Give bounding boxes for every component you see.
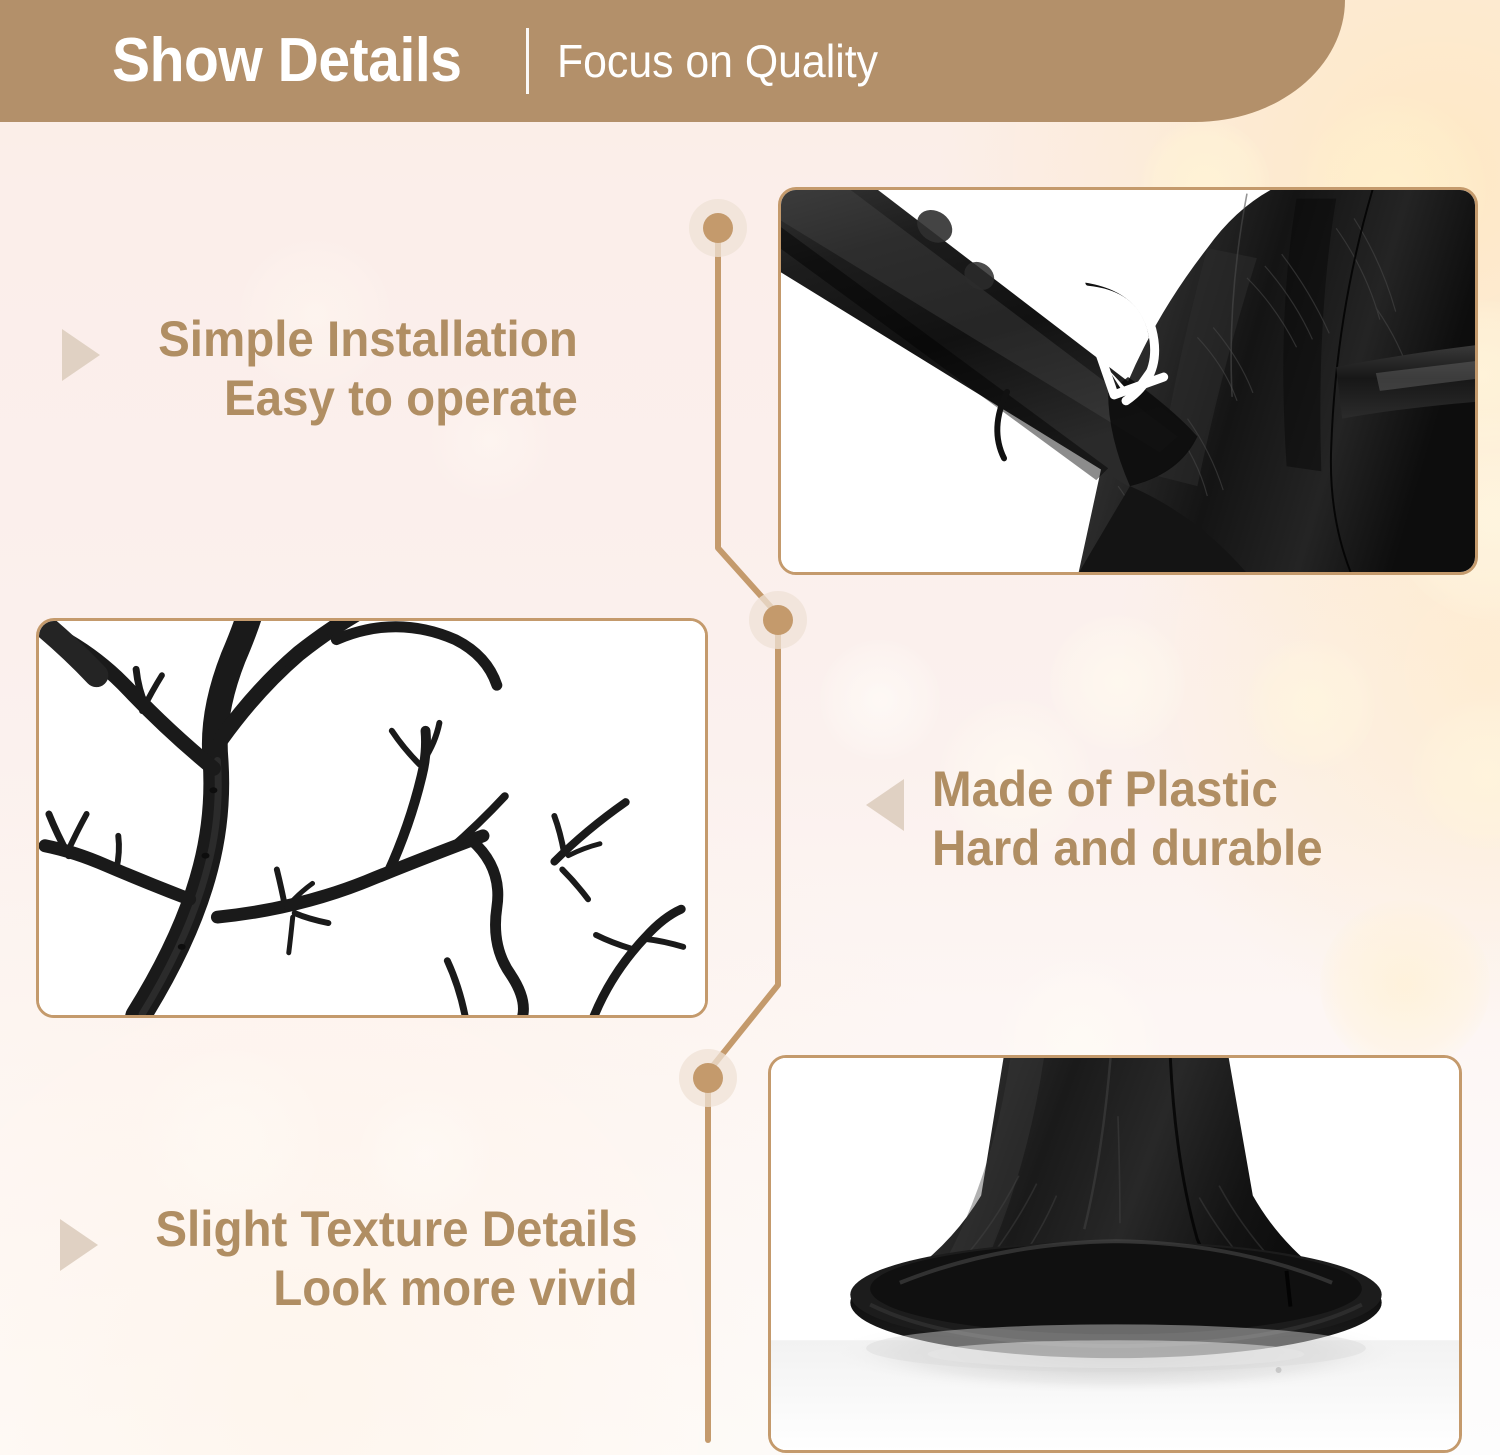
feature-made-of-plastic: Made of Plastic Hard and durable xyxy=(932,760,1343,878)
panel-joint-image xyxy=(781,190,1475,572)
feature-line-2: Look more vivid xyxy=(155,1259,637,1318)
feature-simple-installation: Simple Installation Easy to operate xyxy=(136,310,578,428)
panel-branch-texture[interactable] xyxy=(36,618,708,1018)
header-subtitle: Focus on Quality xyxy=(557,38,878,84)
header-banner: Show Details Focus on Quality xyxy=(0,0,1345,122)
panel-branch-image xyxy=(39,621,705,1015)
triangle-left-icon xyxy=(866,779,904,831)
panel-base-closeup[interactable] xyxy=(768,1055,1462,1453)
header-divider xyxy=(526,28,529,94)
triangle-right-icon xyxy=(62,329,100,381)
feature-line-1: Made of Plastic xyxy=(932,760,1323,819)
feature-line-1: Slight Texture Details xyxy=(155,1200,637,1259)
panel-base-image xyxy=(771,1058,1459,1450)
infographic-root: Show Details Focus on Quality xyxy=(0,0,1500,1455)
page-title: Show Details xyxy=(112,30,461,92)
triangle-right-icon xyxy=(60,1219,98,1271)
panel-joint-closeup[interactable] xyxy=(778,187,1478,575)
feature-line-2: Hard and durable xyxy=(932,819,1323,878)
feature-line-1: Simple Installation xyxy=(158,310,578,369)
feature-slight-texture-details: Slight Texture Details Look more vivid xyxy=(130,1200,638,1318)
feature-line-2: Easy to operate xyxy=(158,369,578,428)
